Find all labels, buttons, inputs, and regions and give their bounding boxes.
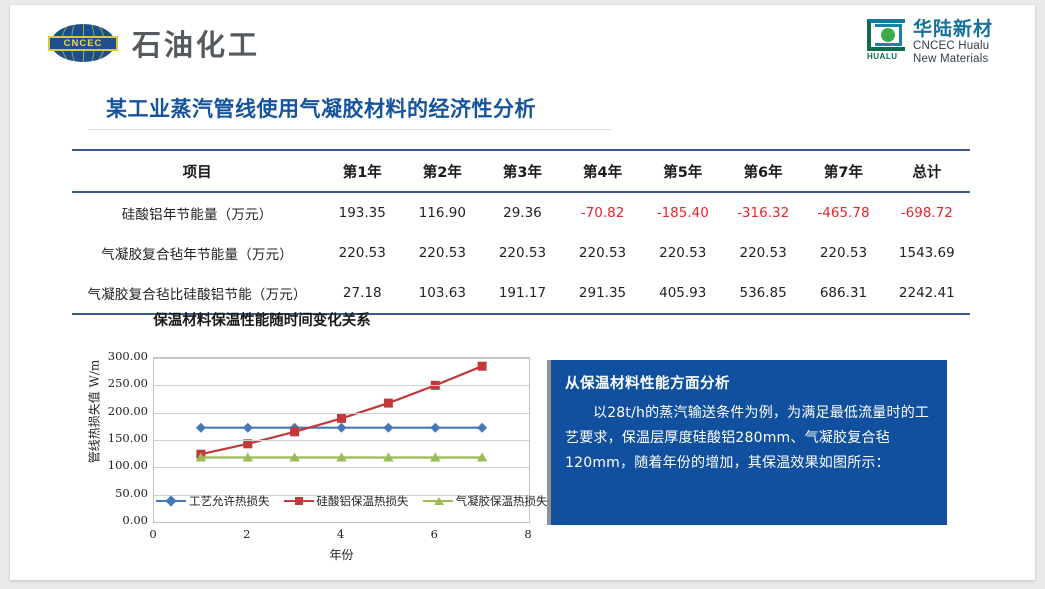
col-header-y7: 第7年 <box>803 150 883 192</box>
y-tick-label: 50.00 <box>115 486 148 500</box>
chart-legend: 工艺允许热损失 硅酸铝保温热损失 气凝胶保温热损失 <box>156 493 548 509</box>
cell: 686.31 <box>803 273 883 314</box>
chart-marker <box>384 399 393 408</box>
cell: 220.53 <box>803 233 883 273</box>
legend-label: 工艺允许热损失 <box>189 493 270 509</box>
legend-swatch-square-icon <box>284 496 314 506</box>
economics-table: 项目 第1年 第2年 第3年 第4年 第5年 第6年 第7年 总计 硅酸铝年节能… <box>72 149 970 315</box>
cell: 220.53 <box>562 233 642 273</box>
hualu-brand-en-1: CNCEC Hualu <box>913 40 993 53</box>
hualu-mark-text: HUALU <box>867 52 898 61</box>
cell: 193.35 <box>322 192 402 233</box>
cell: 291.35 <box>562 273 642 314</box>
chart-marker <box>290 427 299 436</box>
cell: 116.90 <box>402 192 482 233</box>
y-tick-label: 250.00 <box>108 376 148 390</box>
hualu-logo: HUALU 华陆新材 CNCEC Hualu New Materials <box>867 19 993 66</box>
cell: 220.53 <box>723 233 803 273</box>
slide-header: CNCEC 石油化工 HUALU 华陆新材 CNCEC Hualu New Ma… <box>10 5 1035 73</box>
legend-swatch-diamond-icon <box>156 496 186 506</box>
x-tick-label: 4 <box>331 527 351 541</box>
chart-gridline <box>154 440 529 441</box>
chart-gridline <box>154 413 529 414</box>
chart-gridline <box>154 358 529 359</box>
hualu-brand-en-2: New Materials <box>913 53 993 66</box>
cell: 220.53 <box>402 233 482 273</box>
x-tick-label: 8 <box>518 527 538 541</box>
col-header-y1: 第1年 <box>322 150 402 192</box>
x-tick-label: 6 <box>424 527 444 541</box>
title-divider <box>88 129 612 130</box>
chart-gridline <box>154 467 529 468</box>
col-header-y4: 第4年 <box>562 150 642 192</box>
legend-item-0: 工艺允许热损失 <box>156 493 270 509</box>
cell: -185.40 <box>643 192 723 233</box>
insulation-chart: 保温材料保温性能随时间变化关系 管线热损失值 W/m 0.0050.00100.… <box>62 305 540 565</box>
cell: 220.53 <box>482 233 562 273</box>
chart-marker <box>478 362 487 371</box>
table-row: 气凝胶复合毡年节能量（万元） 220.53 220.53 220.53 220.… <box>72 233 970 273</box>
cell: 29.36 <box>482 192 562 233</box>
cncec-brand-text: 石油化工 <box>132 22 260 64</box>
col-header-y2: 第2年 <box>402 150 482 192</box>
legend-label: 硅酸铝保温热损失 <box>317 493 409 509</box>
row-label: 硅酸铝年节能量（万元） <box>72 192 322 233</box>
cell-total: -698.72 <box>884 192 970 233</box>
x-tick-label: 2 <box>237 527 257 541</box>
legend-item-2: 气凝胶保温热损失 <box>423 493 548 509</box>
x-tick-label: 0 <box>143 527 163 541</box>
table-row: 硅酸铝年节能量（万元） 193.35 116.90 29.36 -70.82 -… <box>72 192 970 233</box>
chart-x-axis-label: 年份 <box>153 546 530 563</box>
note-body: 以28t/h的蒸汽输送条件为例，为满足最低流量时的工艺要求，保温层厚度硅酸铝28… <box>565 401 931 476</box>
chart-marker <box>430 423 440 433</box>
cell-total: 1543.69 <box>884 233 970 273</box>
y-tick-label: 100.00 <box>108 458 148 472</box>
cell: 405.93 <box>643 273 723 314</box>
y-tick-label: 300.00 <box>108 349 148 363</box>
cell-total: 2242.41 <box>884 273 970 314</box>
cncec-mark-text: CNCEC <box>64 38 103 49</box>
row-label: 气凝胶复合毡年节能量（万元） <box>72 233 322 273</box>
col-header-y6: 第6年 <box>723 150 803 192</box>
slide-canvas: CNCEC 石油化工 HUALU 华陆新材 CNCEC Hualu New Ma… <box>10 5 1035 580</box>
col-header-item: 项目 <box>72 150 322 192</box>
note-heading: 从保温材料性能方面分析 <box>565 372 931 393</box>
chart-marker <box>243 423 253 433</box>
col-header-y3: 第3年 <box>482 150 562 192</box>
cncec-globe-icon: CNCEC <box>48 24 118 62</box>
y-tick-label: 150.00 <box>108 431 148 445</box>
table-header-row: 项目 第1年 第2年 第3年 第4年 第5年 第6年 第7年 总计 <box>72 150 970 192</box>
legend-item-1: 硅酸铝保温热损失 <box>284 493 409 509</box>
cell: 536.85 <box>723 273 803 314</box>
chart-y-axis-label: 管线热损失值 W/m <box>86 322 103 502</box>
chart-title: 保温材料保温性能随时间变化关系 <box>62 309 462 330</box>
chart-marker <box>196 423 206 433</box>
chart-marker <box>477 423 487 433</box>
chart-marker <box>383 423 393 433</box>
analysis-note-panel: 从保温材料性能方面分析 以28t/h的蒸汽输送条件为例，为满足最低流量时的工艺要… <box>547 360 947 525</box>
col-header-y5: 第5年 <box>643 150 723 192</box>
hualu-brand-cn: 华陆新材 <box>913 19 993 40</box>
y-tick-label: 0.00 <box>122 513 148 527</box>
cell: 220.53 <box>643 233 723 273</box>
cell: -316.32 <box>723 192 803 233</box>
chart-marker <box>337 414 346 423</box>
hualu-mark-icon: HUALU <box>867 19 907 61</box>
cell: -465.78 <box>803 192 883 233</box>
y-tick-label: 200.00 <box>108 404 148 418</box>
cncec-logo: CNCEC 石油化工 <box>48 22 260 64</box>
chart-gridline <box>154 385 529 386</box>
col-header-total: 总计 <box>884 150 970 192</box>
y-axis-label-text: 管线热损失值 W/m <box>88 360 102 464</box>
legend-label: 气凝胶保温热损失 <box>456 493 548 509</box>
cell: -70.82 <box>562 192 642 233</box>
cell: 220.53 <box>322 233 402 273</box>
chart-marker <box>337 423 347 433</box>
legend-swatch-triangle-icon <box>423 496 453 506</box>
chart-line-1 <box>201 366 482 454</box>
page-title: 某工业蒸汽管线使用气凝胶材料的经济性分析 <box>106 93 536 123</box>
